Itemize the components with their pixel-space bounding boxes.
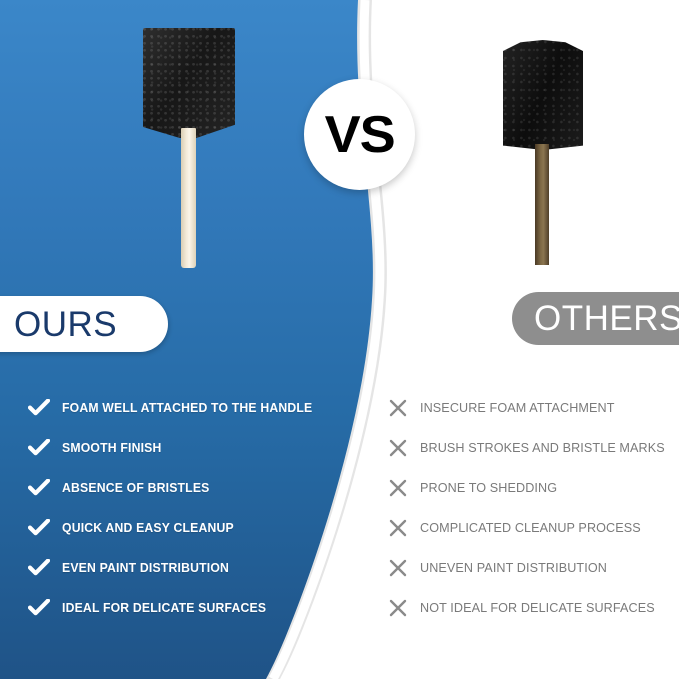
others-banner-label: OTHERS [534,301,679,336]
list-item: NOT IDEAL FOR DELICATE SURFACES [388,588,678,628]
feature-label: ABSENCE OF BRISTLES [62,481,210,495]
others-feature-list: INSECURE FOAM ATTACHMENT BRUSH STROKES A… [388,388,678,628]
list-item: INSECURE FOAM ATTACHMENT [388,388,678,428]
feature-label: EVEN PAINT DISTRIBUTION [62,561,229,575]
check-icon [28,439,58,457]
feature-label: SMOOTH FINISH [62,441,162,455]
feature-label: BRUSH STROKES AND BRISTLE MARKS [420,441,665,455]
list-item: IDEAL FOR DELICATE SURFACES [28,588,348,628]
cross-icon [388,598,418,618]
feature-label: FOAM WELL ATTACHED TO THE HANDLE [62,401,312,415]
list-item: BRUSH STROKES AND BRISTLE MARKS [388,428,678,468]
cross-icon [388,438,418,458]
ours-banner-label: OURS [14,307,117,342]
feature-label: QUICK AND EASY CLEANUP [62,521,234,535]
brush-foam-head [143,28,235,138]
list-item: PRONE TO SHEDDING [388,468,678,508]
cross-icon [388,478,418,498]
feature-label: INSECURE FOAM ATTACHMENT [420,401,615,415]
list-item: FOAM WELL ATTACHED TO THE HANDLE [28,388,348,428]
check-icon [28,519,58,537]
check-icon [28,599,58,617]
feature-label: IDEAL FOR DELICATE SURFACES [62,601,266,615]
check-icon [28,479,58,497]
comparison-infographic: VS OURS OTHERS FOAM WELL ATTACHED TO THE… [0,0,679,679]
cross-icon [388,518,418,538]
vs-badge-icon: VS [304,79,415,190]
list-item: EVEN PAINT DISTRIBUTION [28,548,348,588]
list-item: COMPLICATED CLEANUP PROCESS [388,508,678,548]
feature-label: NOT IDEAL FOR DELICATE SURFACES [420,601,655,615]
brush-wooden-handle [535,144,549,265]
foam-brush-others-photo [503,40,583,265]
ours-banner: OURS [0,296,168,352]
check-icon [28,559,58,577]
feature-label: UNEVEN PAINT DISTRIBUTION [420,561,607,575]
cross-icon [388,398,418,418]
list-item: SMOOTH FINISH [28,428,348,468]
feature-label: COMPLICATED CLEANUP PROCESS [420,521,641,535]
list-item: QUICK AND EASY CLEANUP [28,508,348,548]
feature-label: PRONE TO SHEDDING [420,481,557,495]
brush-wooden-handle [181,128,196,268]
foam-brush-ours-photo [143,28,235,268]
list-item: UNEVEN PAINT DISTRIBUTION [388,548,678,588]
others-banner: OTHERS [512,292,679,345]
list-item: ABSENCE OF BRISTLES [28,468,348,508]
cross-icon [388,558,418,578]
brush-foam-head [503,40,583,150]
ours-feature-list: FOAM WELL ATTACHED TO THE HANDLE SMOOTH … [28,388,348,628]
check-icon [28,399,58,417]
vs-label: VS [324,109,394,161]
